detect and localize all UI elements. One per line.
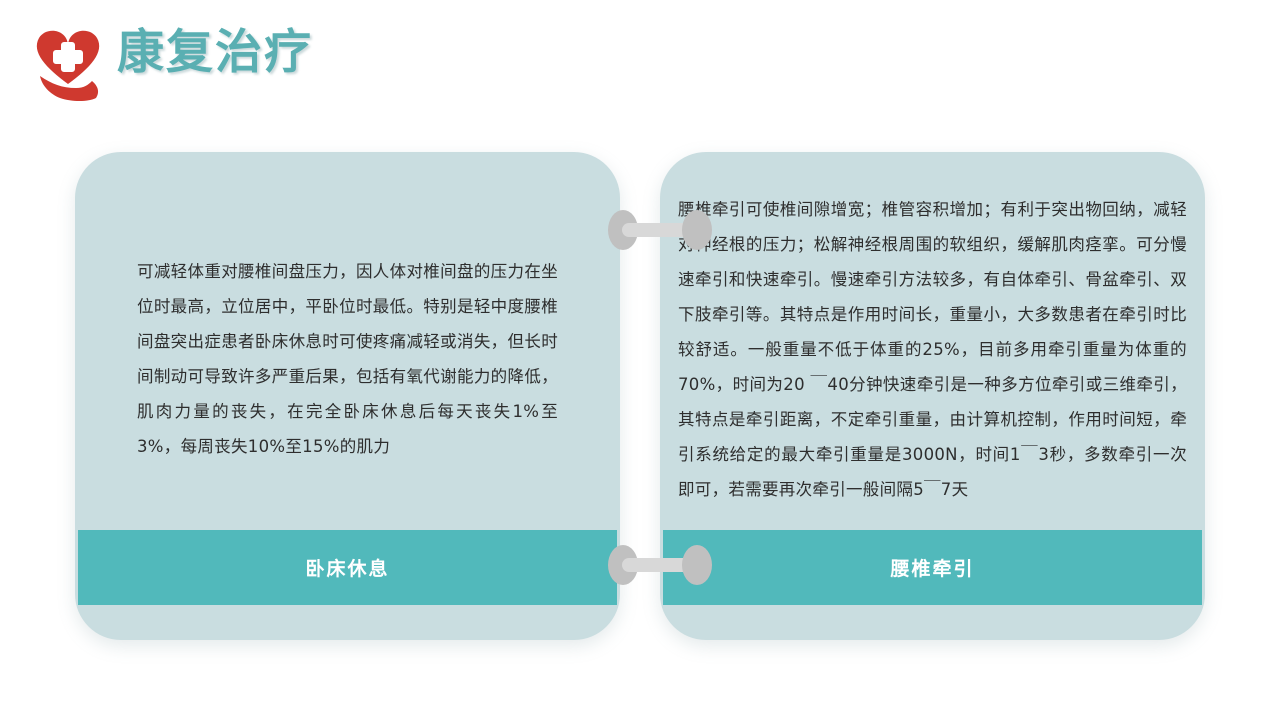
connector-bottom-icon [608,545,712,585]
card-lumbar-traction[interactable]: 腰椎牵引可使椎间隙增宽；椎管容积增加；有利于突出物回纳，减轻对神经根的压力；松解… [660,152,1205,640]
card-text-lumbar-traction: 腰椎牵引可使椎间隙增宽；椎管容积增加；有利于突出物回纳，减轻对神经根的压力；松解… [660,192,1205,507]
card-bed-rest[interactable]: 可减轻体重对腰椎间盘压力，因人体对椎间盘的压力在坐位时最高，立位居中，平卧位时最… [75,152,620,640]
page-title: 康复治疗 [117,22,313,84]
card-text-bed-rest: 可减轻体重对腰椎间盘压力，因人体对椎间盘的压力在坐位时最高，立位居中，平卧位时最… [75,254,620,464]
connector-knob-right-icon [682,545,712,585]
connector-top-icon [608,210,712,250]
heart-in-hand-icon [26,16,110,104]
page-header: 康复治疗 [0,0,1280,120]
card-band-bed-rest[interactable]: 卧床休息 [78,530,617,605]
card-label-bed-rest: 卧床休息 [305,554,389,581]
card-label-lumbar-traction: 腰椎牵引 [890,554,974,581]
connector-knob-right-icon [682,210,712,250]
card-band-lumbar-traction[interactable]: 腰椎牵引 [663,530,1202,605]
